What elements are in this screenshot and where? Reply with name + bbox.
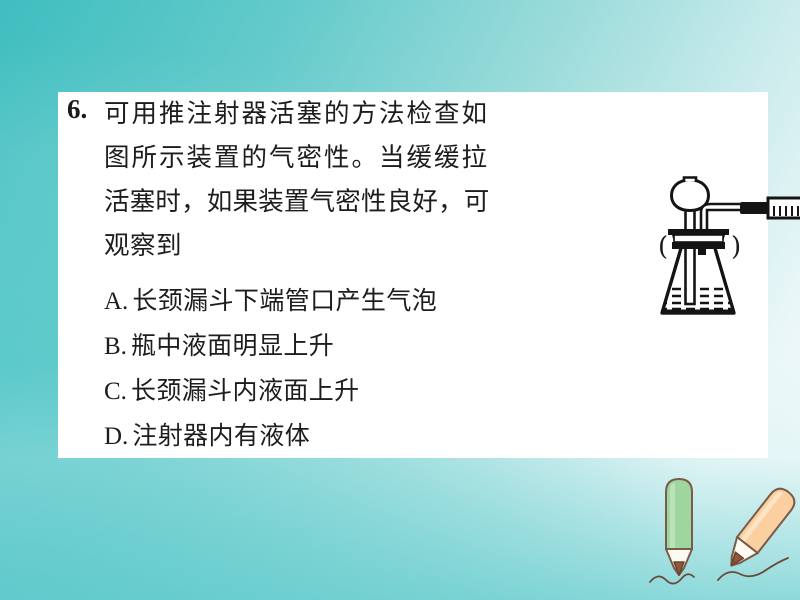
- option-a-text: 长颈漏斗下端管口产生气泡: [132, 286, 437, 315]
- option-b-text: 瓶中液面明显上升: [131, 331, 334, 360]
- option-d-letter: D.: [104, 423, 128, 450]
- green-pencil: [666, 479, 692, 575]
- option-d: D.注射器内有液体: [104, 413, 704, 458]
- option-c: C.长颈漏斗内液面上升: [104, 368, 704, 413]
- option-c-text: 长颈漏斗内液面上升: [131, 376, 360, 405]
- option-b: B.瓶中液面明显上升: [104, 323, 704, 368]
- question-text: 可用推注射器活塞的方法检查如 图所示装置的气密性。当缓缓拉 活塞时，如果装置气密…: [104, 92, 634, 268]
- question-line-1: 可用推注射器活塞的方法检查如: [104, 92, 634, 136]
- orange-pencil: [721, 484, 799, 573]
- apparatus-figure: [654, 176, 800, 328]
- option-d-text: 注射器内有液体: [132, 421, 310, 450]
- option-list: A.长颈漏斗下端管口产生气泡 B.瓶中液面明显上升 C.长颈漏斗内液面上升 D.…: [104, 278, 704, 458]
- option-a: A.长颈漏斗下端管口产生气泡: [104, 278, 704, 323]
- option-a-letter: A.: [104, 288, 128, 315]
- rubber-stopper: [668, 229, 729, 255]
- option-b-letter: B.: [104, 333, 127, 360]
- question-number: 6.: [67, 94, 87, 125]
- syringe: [768, 194, 800, 222]
- rubber-connector: [740, 202, 768, 214]
- question-line-4: 观察到: [104, 224, 634, 268]
- question-line-3: 活塞时，如果装置气密性良好，可: [104, 180, 634, 224]
- option-c-letter: C.: [104, 378, 127, 405]
- pencil-decoration: [648, 476, 800, 600]
- slide-background: 6. 可用推注射器活塞的方法检查如 图所示装置的气密性。当缓缓拉 活塞时，如果装…: [0, 0, 800, 600]
- question-line-2: 图所示装置的气密性。当缓缓拉: [104, 136, 634, 180]
- content-card: 6. 可用推注射器活塞的方法检查如 图所示装置的气密性。当缓缓拉 活塞时，如果装…: [58, 92, 768, 458]
